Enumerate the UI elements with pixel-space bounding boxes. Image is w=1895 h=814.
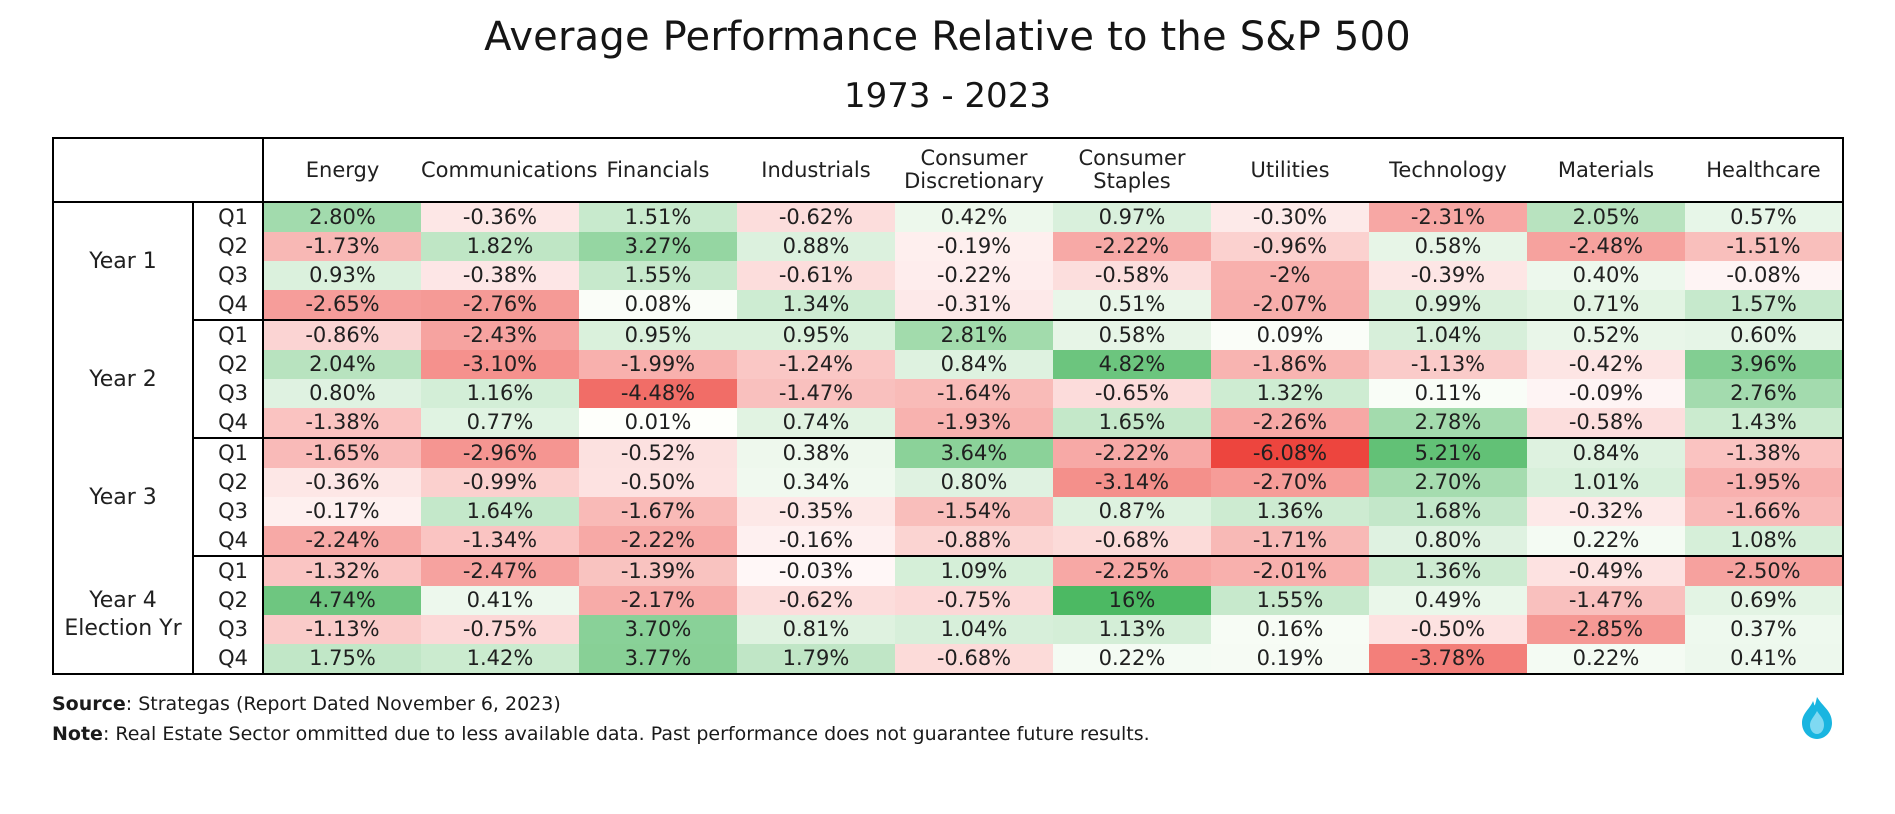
heatmap-cell: 0.08% — [579, 290, 737, 320]
heatmap-cell: -1.93% — [895, 408, 1053, 438]
quarter-label: Q4 — [193, 644, 263, 674]
heatmap-cell: 1.13% — [1053, 615, 1211, 644]
heatmap-cell: -1.51% — [1685, 232, 1843, 261]
heatmap-cell: -6.08% — [1211, 438, 1369, 468]
heatmap-cell: -1.66% — [1685, 497, 1843, 526]
heatmap-cell: -2.22% — [1053, 438, 1211, 468]
heatmap-cell: -1.65% — [263, 438, 421, 468]
table-row: Year 2Q1-0.86%-2.43%0.95%0.95%2.81%0.58%… — [53, 320, 1843, 350]
heatmap-cell: 1.04% — [1369, 320, 1527, 350]
heatmap-cell: 1.64% — [421, 497, 579, 526]
heatmap-cell: -1.47% — [1527, 586, 1685, 615]
heatmap-cell: -0.30% — [1211, 202, 1369, 232]
table-row: Q41.75%1.42%3.77%1.79%-0.68%0.22%0.19%-3… — [53, 644, 1843, 674]
column-header-materials: Materials — [1527, 138, 1685, 202]
heatmap-cell: -0.68% — [1053, 526, 1211, 556]
year-group-label: Year 1 — [53, 202, 193, 320]
column-header-communications: Communications — [421, 138, 579, 202]
heatmap-cell: -1.38% — [263, 408, 421, 438]
quarter-label: Q2 — [193, 468, 263, 497]
heatmap-cell: -2.76% — [421, 290, 579, 320]
heatmap-cell: -0.36% — [421, 202, 579, 232]
heatmap-cell: -2.22% — [579, 526, 737, 556]
heatmap-cell: 1.34% — [737, 290, 895, 320]
heatmap-cell: 2.81% — [895, 320, 1053, 350]
heatmap-cell: 0.99% — [1369, 290, 1527, 320]
heatmap-cell: 0.58% — [1369, 232, 1527, 261]
heatmap-cell: -2.50% — [1685, 556, 1843, 586]
column-header-technology: Technology — [1369, 138, 1527, 202]
heatmap-cell: 0.74% — [737, 408, 895, 438]
heatmap-cell: -1.71% — [1211, 526, 1369, 556]
table-row: Year 3Q1-1.65%-2.96%-0.52%0.38%3.64%-2.2… — [53, 438, 1843, 468]
heatmap-cell: 1.43% — [1685, 408, 1843, 438]
column-header-industrials: Industrials — [737, 138, 895, 202]
heatmap-cell: -0.49% — [1527, 556, 1685, 586]
heatmap-cell: -0.58% — [1527, 408, 1685, 438]
heatmap-cell: -1.99% — [579, 350, 737, 379]
heatmap-cell: -0.96% — [1211, 232, 1369, 261]
heatmap-cell: 0.01% — [579, 408, 737, 438]
heatmap-cell: 0.84% — [895, 350, 1053, 379]
heatmap-cell: -1.13% — [1369, 350, 1527, 379]
heatmap-cell: 0.81% — [737, 615, 895, 644]
heatmap-cell: 0.69% — [1685, 586, 1843, 615]
heatmap-cell: 3.64% — [895, 438, 1053, 468]
heatmap-cell: 1.08% — [1685, 526, 1843, 556]
heatmap-cell: 0.60% — [1685, 320, 1843, 350]
heatmap-cell: -3.14% — [1053, 468, 1211, 497]
heatmap-cell: 0.34% — [737, 468, 895, 497]
heatmap-cell: 0.97% — [1053, 202, 1211, 232]
heatmap-cell: -0.08% — [1685, 261, 1843, 290]
heatmap-cell: -0.38% — [421, 261, 579, 290]
heatmap-cell: -2.25% — [1053, 556, 1211, 586]
table-row: Q3-1.13%-0.75%3.70%0.81%1.04%1.13%0.16%-… — [53, 615, 1843, 644]
quarter-label: Q4 — [193, 408, 263, 438]
heatmap-cell: -3.78% — [1369, 644, 1527, 674]
heatmap-cell: -2% — [1211, 261, 1369, 290]
heatmap-cell: 0.52% — [1527, 320, 1685, 350]
quarter-label: Q2 — [193, 232, 263, 261]
heatmap-cell: -0.75% — [421, 615, 579, 644]
quarter-label: Q1 — [193, 320, 263, 350]
heatmap-cell: -0.17% — [263, 497, 421, 526]
column-header-consumer-discretionary: Consumer Discretionary — [895, 138, 1053, 202]
table-row: Year 4 Election YrQ1-1.32%-2.47%-1.39%-0… — [53, 556, 1843, 586]
heatmap-cell: -2.48% — [1527, 232, 1685, 261]
table-row: Q2-1.73%1.82%3.27%0.88%-0.19%-2.22%-0.96… — [53, 232, 1843, 261]
heatmap-cell: -0.52% — [579, 438, 737, 468]
table-row: Q30.80%1.16%-4.48%-1.47%-1.64%-0.65%1.32… — [53, 379, 1843, 408]
page-subtitle: 1973 - 2023 — [0, 78, 1895, 115]
heatmap-cell: 2.80% — [263, 202, 421, 232]
heatmap-cell: -0.16% — [737, 526, 895, 556]
heatmap-cell: 0.58% — [1053, 320, 1211, 350]
heatmap-cell: -2.22% — [1053, 232, 1211, 261]
heatmap-cell: 1.55% — [579, 261, 737, 290]
table-row: Q30.93%-0.38%1.55%-0.61%-0.22%-0.58%-2%-… — [53, 261, 1843, 290]
heatmap-cell: 1.01% — [1527, 468, 1685, 497]
heatmap-cell: 1.36% — [1369, 556, 1527, 586]
heatmap-cell: 0.22% — [1527, 526, 1685, 556]
quarter-label: Q2 — [193, 586, 263, 615]
heatmap-cell: -0.03% — [737, 556, 895, 586]
heatmap-cell: -2.70% — [1211, 468, 1369, 497]
heatmap-cell: -0.50% — [1369, 615, 1527, 644]
heatmap-cell: 1.57% — [1685, 290, 1843, 320]
year-group-label: Year 4 Election Yr — [53, 556, 193, 674]
heatmap-cell: 0.95% — [579, 320, 737, 350]
source-line: Source: Strategas (Report Dated November… — [52, 691, 1843, 719]
heatmap-cell: -0.09% — [1527, 379, 1685, 408]
heatmap-cell: 2.05% — [1527, 202, 1685, 232]
heatmap-cell: -1.38% — [1685, 438, 1843, 468]
heatmap-cell: 1.68% — [1369, 497, 1527, 526]
quarter-label: Q1 — [193, 438, 263, 468]
heatmap-cell: -1.86% — [1211, 350, 1369, 379]
heatmap-cell: 1.09% — [895, 556, 1053, 586]
table-body: Year 1Q12.80%-0.36%1.51%-0.62%0.42%0.97%… — [53, 202, 1843, 674]
heatmap-cell: -1.95% — [1685, 468, 1843, 497]
heatmap-cell: -1.24% — [737, 350, 895, 379]
note-label: Note — [52, 723, 103, 745]
heatmap-cell: 2.78% — [1369, 408, 1527, 438]
heatmap-cell: -0.58% — [1053, 261, 1211, 290]
heatmap-cell: -2.01% — [1211, 556, 1369, 586]
heatmap-cell: -0.75% — [895, 586, 1053, 615]
heatmap-cell: 1.16% — [421, 379, 579, 408]
year-group-label: Year 2 — [53, 320, 193, 438]
table-row: Q24.74%0.41%-2.17%-0.62%-0.75%16%1.55%0.… — [53, 586, 1843, 615]
heatmap-cell: -1.73% — [263, 232, 421, 261]
heatmap-cell: 3.70% — [579, 615, 737, 644]
heatmap-cell: 0.80% — [895, 468, 1053, 497]
heatmap-cell: 0.38% — [737, 438, 895, 468]
quarter-label: Q3 — [193, 261, 263, 290]
heatmap-cell: -0.61% — [737, 261, 895, 290]
page-title: Average Performance Relative to the S&P … — [0, 14, 1895, 60]
quarter-label: Q3 — [193, 497, 263, 526]
heatmap-cell: 2.04% — [263, 350, 421, 379]
table-row: Q4-1.38%0.77%0.01%0.74%-1.93%1.65%-2.26%… — [53, 408, 1843, 438]
heatmap-cell: 0.16% — [1211, 615, 1369, 644]
performance-table-wrap: EnergyCommunicationsFinancialsIndustrial… — [52, 137, 1843, 675]
heatmap-cell: 1.04% — [895, 615, 1053, 644]
heatmap-cell: -0.65% — [1053, 379, 1211, 408]
heatmap-cell: 0.77% — [421, 408, 579, 438]
heatmap-cell: 1.42% — [421, 644, 579, 674]
heatmap-cell: 1.32% — [1211, 379, 1369, 408]
column-header-financials: Financials — [579, 138, 737, 202]
heatmap-cell: 4.82% — [1053, 350, 1211, 379]
table-row: Q4-2.65%-2.76%0.08%1.34%-0.31%0.51%-2.07… — [53, 290, 1843, 320]
header-corner-cell — [53, 138, 263, 202]
heatmap-cell: 0.95% — [737, 320, 895, 350]
heatmap-cell: -2.17% — [579, 586, 737, 615]
heatmap-cell: -0.35% — [737, 497, 895, 526]
heatmap-cell: 16% — [1053, 586, 1211, 615]
heatmap-cell: 0.88% — [737, 232, 895, 261]
performance-heatmap-table: EnergyCommunicationsFinancialsIndustrial… — [52, 137, 1844, 675]
note-text: : Real Estate Sector ommitted due to les… — [103, 723, 1150, 745]
year-group-label: Year 3 — [53, 438, 193, 556]
heatmap-cell: -1.67% — [579, 497, 737, 526]
heatmap-cell: 1.55% — [1211, 586, 1369, 615]
heatmap-cell: 0.41% — [421, 586, 579, 615]
flame-icon — [1797, 695, 1837, 741]
heatmap-cell: -0.31% — [895, 290, 1053, 320]
source-label: Source — [52, 693, 126, 715]
heatmap-cell: 0.80% — [1369, 526, 1527, 556]
heatmap-cell: 0.11% — [1369, 379, 1527, 408]
quarter-label: Q4 — [193, 290, 263, 320]
heatmap-cell: -2.43% — [421, 320, 579, 350]
heatmap-cell: 0.42% — [895, 202, 1053, 232]
column-header-consumer-staples: Consumer Staples — [1053, 138, 1211, 202]
heatmap-cell: 0.87% — [1053, 497, 1211, 526]
heatmap-cell: 3.77% — [579, 644, 737, 674]
heatmap-cell: 1.36% — [1211, 497, 1369, 526]
heatmap-cell: 3.27% — [579, 232, 737, 261]
heatmap-cell: 2.76% — [1685, 379, 1843, 408]
heatmap-cell: 0.19% — [1211, 644, 1369, 674]
heatmap-cell: 5.21% — [1369, 438, 1527, 468]
column-header-energy: Energy — [263, 138, 421, 202]
heatmap-cell: -0.62% — [737, 202, 895, 232]
heatmap-cell: -1.34% — [421, 526, 579, 556]
quarter-label: Q3 — [193, 615, 263, 644]
heatmap-cell: -0.86% — [263, 320, 421, 350]
heatmap-cell: -2.96% — [421, 438, 579, 468]
heatmap-cell: 1.65% — [1053, 408, 1211, 438]
heatmap-cell: -0.32% — [1527, 497, 1685, 526]
heatmap-cell: -0.39% — [1369, 261, 1527, 290]
heatmap-cell: -2.24% — [263, 526, 421, 556]
heatmap-cell: -2.65% — [263, 290, 421, 320]
title-block: Average Performance Relative to the S&P … — [0, 0, 1895, 115]
heatmap-cell: 0.40% — [1527, 261, 1685, 290]
heatmap-cell: -0.36% — [263, 468, 421, 497]
heatmap-cell: -0.68% — [895, 644, 1053, 674]
heatmap-cell: 3.96% — [1685, 350, 1843, 379]
heatmap-cell: -0.42% — [1527, 350, 1685, 379]
heatmap-cell: -2.26% — [1211, 408, 1369, 438]
quarter-label: Q1 — [193, 202, 263, 232]
footer: Source: Strategas (Report Dated November… — [52, 691, 1843, 748]
heatmap-cell: 0.41% — [1685, 644, 1843, 674]
heatmap-cell: 0.57% — [1685, 202, 1843, 232]
column-header-utilities: Utilities — [1211, 138, 1369, 202]
heatmap-cell: -2.47% — [421, 556, 579, 586]
quarter-label: Q4 — [193, 526, 263, 556]
source-text: : Strategas (Report Dated November 6, 20… — [126, 693, 561, 715]
note-line: Note: Real Estate Sector ommitted due to… — [52, 721, 1843, 749]
heatmap-cell: -0.22% — [895, 261, 1053, 290]
column-header-healthcare: Healthcare — [1685, 138, 1843, 202]
heatmap-cell: 0.22% — [1053, 644, 1211, 674]
heatmap-cell: -4.48% — [579, 379, 737, 408]
heatmap-cell: -0.19% — [895, 232, 1053, 261]
heatmap-cell: 0.22% — [1527, 644, 1685, 674]
heatmap-cell: -1.13% — [263, 615, 421, 644]
heatmap-cell: -2.31% — [1369, 202, 1527, 232]
heatmap-cell: 0.09% — [1211, 320, 1369, 350]
heatmap-cell: 2.70% — [1369, 468, 1527, 497]
table-header-row: EnergyCommunicationsFinancialsIndustrial… — [53, 138, 1843, 202]
heatmap-cell: -0.99% — [421, 468, 579, 497]
heatmap-cell: 0.49% — [1369, 586, 1527, 615]
heatmap-cell: -0.62% — [737, 586, 895, 615]
heatmap-cell: 0.51% — [1053, 290, 1211, 320]
heatmap-cell: -1.39% — [579, 556, 737, 586]
heatmap-cell: -0.88% — [895, 526, 1053, 556]
heatmap-cell: -1.54% — [895, 497, 1053, 526]
table-row: Q2-0.36%-0.99%-0.50%0.34%0.80%-3.14%-2.7… — [53, 468, 1843, 497]
heatmap-cell: -2.85% — [1527, 615, 1685, 644]
heatmap-cell: 0.80% — [263, 379, 421, 408]
heatmap-cell: 1.79% — [737, 644, 895, 674]
table-row: Q4-2.24%-1.34%-2.22%-0.16%-0.88%-0.68%-1… — [53, 526, 1843, 556]
heatmap-cell: -0.50% — [579, 468, 737, 497]
heatmap-cell: -3.10% — [421, 350, 579, 379]
heatmap-cell: -1.64% — [895, 379, 1053, 408]
table-row: Year 1Q12.80%-0.36%1.51%-0.62%0.42%0.97%… — [53, 202, 1843, 232]
heatmap-cell: -1.32% — [263, 556, 421, 586]
table-header: EnergyCommunicationsFinancialsIndustrial… — [53, 138, 1843, 202]
table-row: Q3-0.17%1.64%-1.67%-0.35%-1.54%0.87%1.36… — [53, 497, 1843, 526]
page-root: Average Performance Relative to the S&P … — [0, 0, 1895, 814]
heatmap-cell: 1.51% — [579, 202, 737, 232]
heatmap-cell: -2.07% — [1211, 290, 1369, 320]
heatmap-cell: -1.47% — [737, 379, 895, 408]
heatmap-cell: 0.71% — [1527, 290, 1685, 320]
quarter-label: Q1 — [193, 556, 263, 586]
heatmap-cell: 0.84% — [1527, 438, 1685, 468]
quarter-label: Q3 — [193, 379, 263, 408]
heatmap-cell: 4.74% — [263, 586, 421, 615]
table-row: Q22.04%-3.10%-1.99%-1.24%0.84%4.82%-1.86… — [53, 350, 1843, 379]
quarter-label: Q2 — [193, 350, 263, 379]
heatmap-cell: 0.93% — [263, 261, 421, 290]
heatmap-cell: 1.82% — [421, 232, 579, 261]
heatmap-cell: 0.37% — [1685, 615, 1843, 644]
heatmap-cell: 1.75% — [263, 644, 421, 674]
